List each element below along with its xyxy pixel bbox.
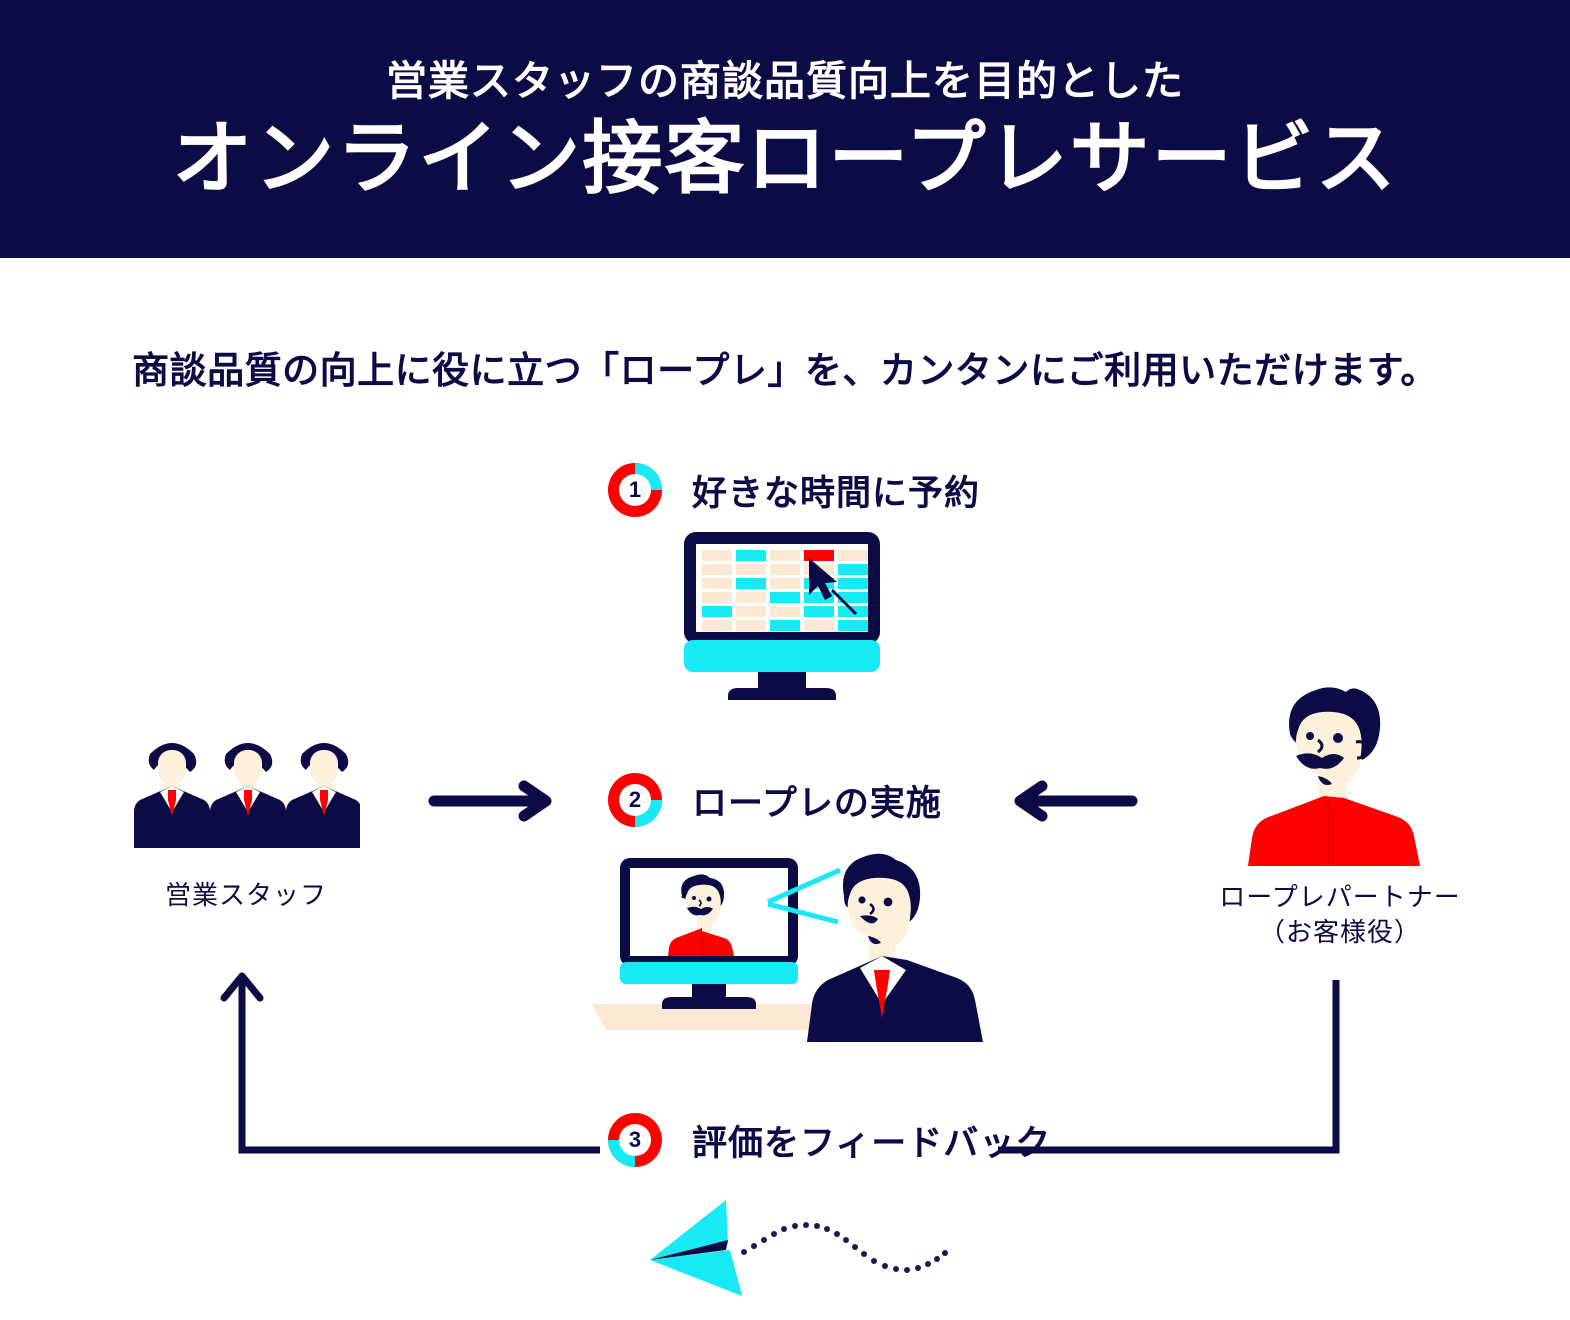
step-1-badge: 1 [608,463,662,517]
partner-label-sub: （お客様役） [1170,915,1510,950]
header-subtitle: 営業スタッフの商談品質向上を目的とした [386,59,1184,104]
step-2-heading: 2 ロープレの実施 [608,773,942,827]
calendar-monitor-illustration [676,528,888,700]
video-call-illustration [592,852,988,1042]
step-3-label: 評価をフィードバック [692,1115,1051,1166]
sales-staff-label: 営業スタッフ [104,878,388,913]
step-3-heading: 3 評価をフィードバック [608,1113,1051,1167]
lead-text: 商談品質の向上に役に立つ「ロープレ」を、カンタンにご利用いただけます。 [0,340,1570,394]
page-header: 営業スタッフの商談品質向上を目的とした オンライン接客ロープレサービス [0,0,1570,258]
page-title: オンライン接客ロープレサービス [172,119,1397,199]
arrow-left-icon [1008,780,1138,822]
staff-person [210,743,286,848]
sales-staff-illustration [132,728,360,848]
step-2-number: 2 [619,784,651,816]
roleplay-partner-label: ロープレパートナー （お客様役） [1170,880,1510,950]
feedback-path-left [190,950,610,1170]
dotted-trail-icon [741,1222,948,1273]
step-3-badge: 3 [608,1113,662,1167]
paper-plane-illustration [608,1182,988,1312]
step-1-heading: 1 好きな時間に予約 [608,463,980,517]
step-1-number: 1 [619,474,651,506]
paper-plane-icon [650,1200,742,1296]
foreground-sales-staff [807,854,983,1042]
step-3-number: 3 [619,1124,651,1156]
staff-person [134,743,210,848]
infographic-page: 営業スタッフの商談品質向上を目的とした オンライン接客ロープレサービス 商談品質… [0,0,1570,1320]
step-2-badge: 2 [608,773,662,827]
roleplay-partner-illustration [1238,676,1438,866]
partner-label-main: ロープレパートナー [1170,880,1510,915]
step-1-label: 好きな時間に予約 [692,465,980,516]
staff-person [286,743,360,848]
arrow-right-icon [428,780,558,822]
step-2-label: ロープレの実施 [692,775,942,826]
